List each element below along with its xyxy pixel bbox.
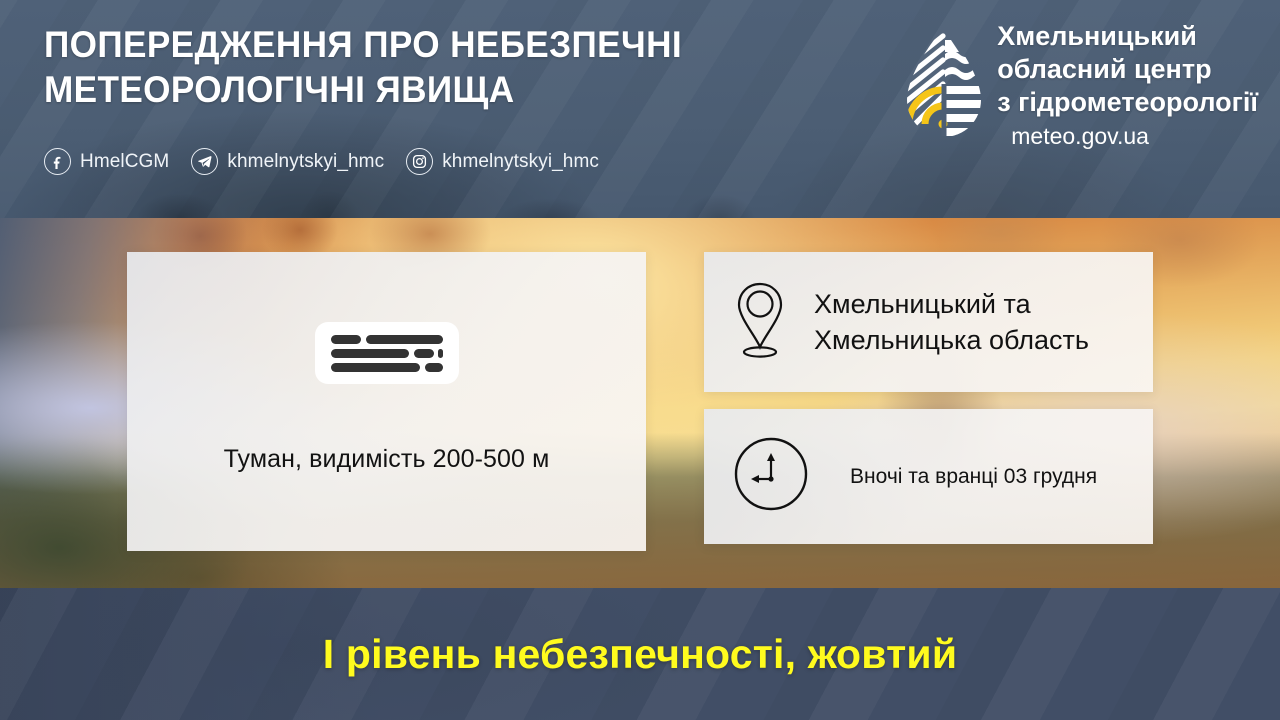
location-line-1: Хмельницький та <box>814 286 1089 322</box>
social-link-telegram[interactable]: khmelnytskyi_hmc <box>191 148 384 175</box>
danger-level-text: І рівень небезпечності, жовтий <box>323 631 958 678</box>
time-label: Вночі та вранці 03 грудня <box>850 465 1097 489</box>
telegram-icon <box>191 148 218 175</box>
social-link-facebook[interactable]: HmelCGM <box>44 148 169 175</box>
water-drop-logo-icon <box>903 24 985 146</box>
logo-website-url[interactable]: meteo.gov.ua <box>1011 121 1258 151</box>
clock-icon <box>732 435 810 518</box>
hazard-card: Туман, видимість 200-500 м <box>127 252 646 551</box>
poster-title: ПОПЕРЕДЖЕННЯ ПРО НЕБЕЗПЕЧНІ МЕТЕОРОЛОГІЧ… <box>44 22 824 112</box>
facebook-handle: HmelCGM <box>80 151 169 173</box>
title-line-1: ПОПЕРЕДЖЕННЯ ПРО НЕБЕЗПЕЧНІ <box>44 22 785 67</box>
logo-text-block: Хмельницький обласний центр з гідрометео… <box>997 20 1258 151</box>
social-link-instagram[interactable]: khmelnytskyi_hmc <box>406 148 599 175</box>
header-band: ПОПЕРЕДЖЕННЯ ПРО НЕБЕЗПЕЧНІ МЕТЕОРОЛОГІЧ… <box>0 0 1280 218</box>
logo-line-2: обласний центр <box>997 53 1258 86</box>
organization-logo[interactable]: Хмельницький обласний центр з гідрометео… <box>903 20 1258 151</box>
instagram-handle: khmelnytskyi_hmc <box>442 151 599 173</box>
facebook-icon <box>44 148 71 175</box>
hazard-label: Туман, видимість 200-500 м <box>224 445 550 474</box>
location-card: Хмельницький та Хмельницька область <box>704 252 1153 392</box>
location-line-2: Хмельницька область <box>814 322 1089 358</box>
social-links: HmelCGM khmelnytskyi_hmc <box>44 148 621 175</box>
fog-icon <box>315 322 459 389</box>
logo-line-1: Хмельницький <box>997 20 1258 53</box>
map-pin-icon <box>732 279 788 366</box>
logo-line-3: з гідрометеорології <box>997 86 1258 119</box>
weather-warning-poster: ПОПЕРЕДЖЕННЯ ПРО НЕБЕЗПЕЧНІ МЕТЕОРОЛОГІЧ… <box>0 0 1280 720</box>
time-card: Вночі та вранці 03 грудня <box>704 409 1153 544</box>
title-line-2: МЕТЕОРОЛОГІЧНІ ЯВИЩА <box>44 67 785 112</box>
telegram-handle: khmelnytskyi_hmc <box>227 151 384 173</box>
instagram-icon <box>406 148 433 175</box>
danger-level-banner: І рівень небезпечності, жовтий <box>0 588 1280 720</box>
location-text: Хмельницький та Хмельницька область <box>814 286 1089 358</box>
